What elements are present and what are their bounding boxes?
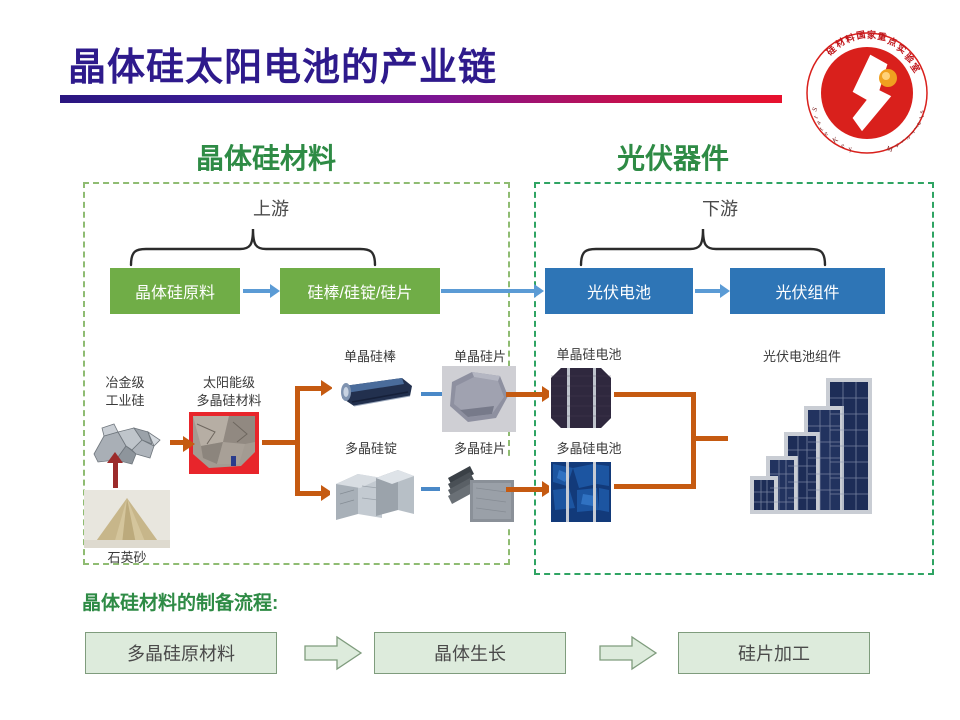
photo-label-line1: 冶金级 (86, 374, 164, 392)
photo-label-line2: 工业硅 (86, 392, 164, 410)
section-heading-crystalline-silicon-materials: 晶体硅材料 (196, 137, 336, 177)
arrow-sand-to-silicon-shaft (113, 462, 118, 488)
arrow-wafer-to-cell (441, 289, 535, 293)
label-upstream: 上游 (253, 195, 289, 221)
brace-upstream (128, 225, 378, 267)
mono-wafer-photo (442, 366, 516, 432)
poly-solar-cell-photo (549, 460, 613, 524)
photo-label-line1: 多晶硅片 (440, 440, 520, 458)
silicon-lumps-photo (88, 414, 168, 472)
poly-wafer-stack-photo (440, 458, 520, 528)
photo-label-mono-solar-cell: 单晶硅电池 (543, 346, 635, 364)
svg-text:国: 国 (855, 29, 866, 41)
arrow-feedstock-to-wafer (243, 289, 271, 293)
title-gradient-rule (60, 95, 782, 103)
photo-label-metallurgical-silicon: 冶金级 工业硅 (86, 374, 164, 409)
state-key-lab-seal-logo: 硅 材 料 国 家 重 点 实 验 室 S t a t e K e y M (800, 26, 934, 160)
poly-ingot-photo (330, 462, 418, 526)
photo-label-line1: 太阳能级 (176, 374, 282, 392)
arrow-silicon-to-polysilicon-shaft (170, 440, 184, 445)
merge-mono-horizontal (614, 392, 696, 397)
arrow-sand-to-silicon-head (107, 452, 123, 463)
photo-label-line2: 多晶硅材料 (176, 392, 282, 410)
box-pv-module[interactable]: 光伏组件 (730, 268, 885, 314)
photo-label-poly-ingot: 多晶硅锭 (330, 440, 412, 458)
svg-text:家: 家 (867, 29, 877, 40)
photo-label-line1: 单晶硅片 (440, 348, 520, 366)
brace-downstream (578, 225, 828, 267)
arrow-cell-to-module (695, 289, 721, 293)
arrow-poly-wafer-to-cell-shaft (506, 487, 544, 492)
section-heading-pv-devices: 光伏器件 (617, 137, 729, 177)
photo-label-quartz-sand: 石英砂 (84, 549, 170, 567)
mono-solar-cell-photo (549, 366, 613, 430)
photo-label-line1: 单晶硅电池 (543, 346, 635, 364)
branch-upper-horizontal (295, 386, 323, 391)
photo-label-poly-wafer: 多晶硅片 (440, 440, 520, 458)
pv-module-stack-photo (728, 370, 888, 524)
photo-label-line1: 石英砂 (84, 549, 170, 567)
box-rod-ingot-wafer[interactable]: 硅棒/硅锭/硅片 (280, 268, 440, 314)
page-title: 晶体硅太阳电池的产业链 (68, 36, 497, 91)
photo-label-solar-grade-polysilicon: 太阳能级 多晶硅材料 (176, 374, 282, 409)
merge-poly-horizontal (614, 484, 696, 489)
photo-label-line1: 单晶硅棒 (330, 348, 410, 366)
slide-canvas: 晶体硅太阳电池的产业链 硅 材 料 国 家 重 点 实 验 室 S (0, 0, 960, 720)
arrow-mono-wafer-to-cell-shaft (506, 392, 544, 397)
process-flow-title: 晶体硅材料的制备流程: (82, 588, 278, 615)
label-downstream: 下游 (702, 195, 738, 221)
photo-label-pv-module: 光伏电池组件 (742, 348, 862, 366)
branch-trunk-vertical (295, 386, 300, 496)
photo-label-line1: 多晶硅电池 (543, 440, 635, 458)
photo-label-mono-wafer: 单晶硅片 (440, 348, 520, 366)
process-step-polysilicon-raw-material[interactable]: 多晶硅原材料 (85, 632, 277, 674)
box-crystalline-silicon-feedstock[interactable]: 晶体硅原料 (110, 268, 240, 314)
mono-silicon-rod-photo (332, 372, 418, 414)
quartz-sand-photo (84, 490, 170, 548)
arrow-silicon-to-polysilicon-head (183, 436, 195, 452)
process-step-crystal-growth[interactable]: 晶体生长 (374, 632, 566, 674)
chevron-right-icon (303, 634, 365, 672)
photo-label-line1: 多晶硅锭 (330, 440, 412, 458)
polysilicon-chunk-photo (189, 412, 259, 474)
photo-label-mono-silicon-rod: 单晶硅棒 (330, 348, 410, 366)
process-step-wafer-processing[interactable]: 硅片加工 (678, 632, 870, 674)
branch-lower-horizontal (295, 491, 323, 496)
svg-text:M: M (885, 144, 894, 154)
photo-label-poly-solar-cell: 多晶硅电池 (543, 440, 635, 458)
box-pv-cell[interactable]: 光伏电池 (545, 268, 693, 314)
photo-label-line1: 光伏电池组件 (742, 348, 862, 366)
chevron-right-icon-2 (598, 634, 660, 672)
